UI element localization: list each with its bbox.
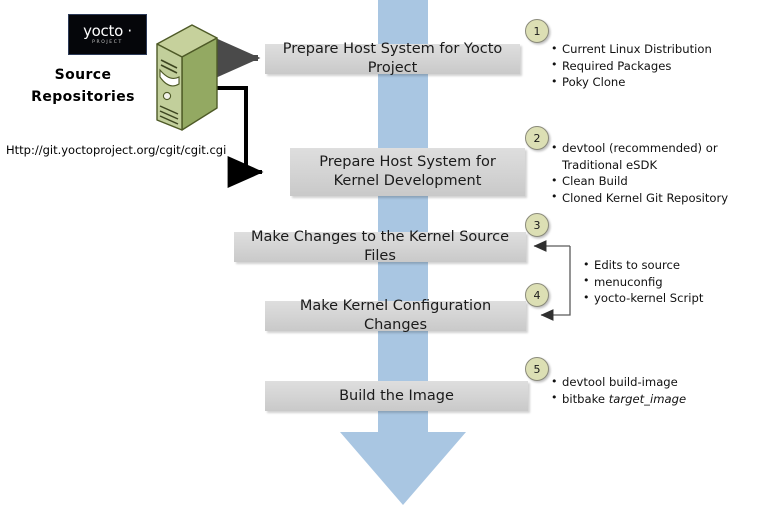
list-item: Poky Clone [551,74,763,91]
connector-server-to-step2 [214,88,262,172]
step-badge-5: 5 [525,357,549,381]
list-item: Cloned Kernel Git Repository [551,190,763,207]
step-badge-2-number: 2 [534,132,541,145]
list-item: devtool build-image [551,374,763,391]
step-box-3[interactable]: Make Changes to the Kernel Source Files [234,232,526,262]
step-box-5[interactable]: Build the Image [265,381,528,411]
step-badge-2: 2 [525,126,549,150]
kernel-development-flow-diagram: yocto · PROJECT Source Repositories Http… [0,0,769,517]
source-repositories-label-line1: Source [22,64,144,86]
yocto-logo-wordmark: yocto · [83,24,132,39]
step-badge-4-number: 4 [534,289,541,302]
source-repositories-label: Source Repositories [22,64,144,108]
source-repositories-url: Http://git.yoctoproject.org/cgit/cgit.cg… [6,143,226,157]
step-badge-3-number: 3 [534,219,541,232]
list-item-italic: bitbake target_image [551,391,763,408]
bitbake-prefix: bitbake [562,392,609,406]
list-item: Edits to source [583,257,763,274]
step-box-4-label: Make Kernel Configuration Changes [273,297,518,335]
step-box-2-label: Prepare Host System for Kernel Developme… [298,153,517,191]
step-badge-1-number: 1 [534,25,541,38]
step-5-bullets: devtool build-image bitbake target_image [551,374,763,407]
bitbake-target-image: target_image [609,392,686,406]
step-box-3-label: Make Changes to the Kernel Source Files [242,228,518,266]
step-2-bullets: devtool (recommended) or Traditional eSD… [551,140,763,206]
list-item: menuconfig [583,274,763,291]
step-badge-5-number: 5 [534,363,541,376]
step-box-5-label: Build the Image [339,387,454,406]
list-item: Clean Build [551,173,763,190]
connector-bracket-to-step4 [541,246,570,315]
step-badge-3: 3 [525,213,549,237]
list-item: Required Packages [551,58,763,75]
step-badge-1: 1 [525,19,549,43]
source-repositories-label-line2: Repositories [22,86,144,108]
step-3-4-shared-bullets: Edits to source menuconfig yocto-kernel … [583,257,763,307]
list-item: devtool (recommended) or Traditional eSD… [551,140,763,173]
step-box-4[interactable]: Make Kernel Configuration Changes [265,301,526,331]
list-item: yocto-kernel Script [583,290,763,307]
list-item: Current Linux Distribution [551,41,763,58]
step-box-2[interactable]: Prepare Host System for Kernel Developme… [290,148,525,196]
yocto-logo-subtext: PROJECT [92,40,123,46]
step-1-bullets: Current Linux Distribution Required Pack… [551,41,763,91]
step-badge-4: 4 [525,283,549,307]
step-box-1-label: Prepare Host System for Yocto Project [273,40,512,78]
server-tower-icon [132,24,218,138]
step-box-1[interactable]: Prepare Host System for Yocto Project [265,44,520,74]
